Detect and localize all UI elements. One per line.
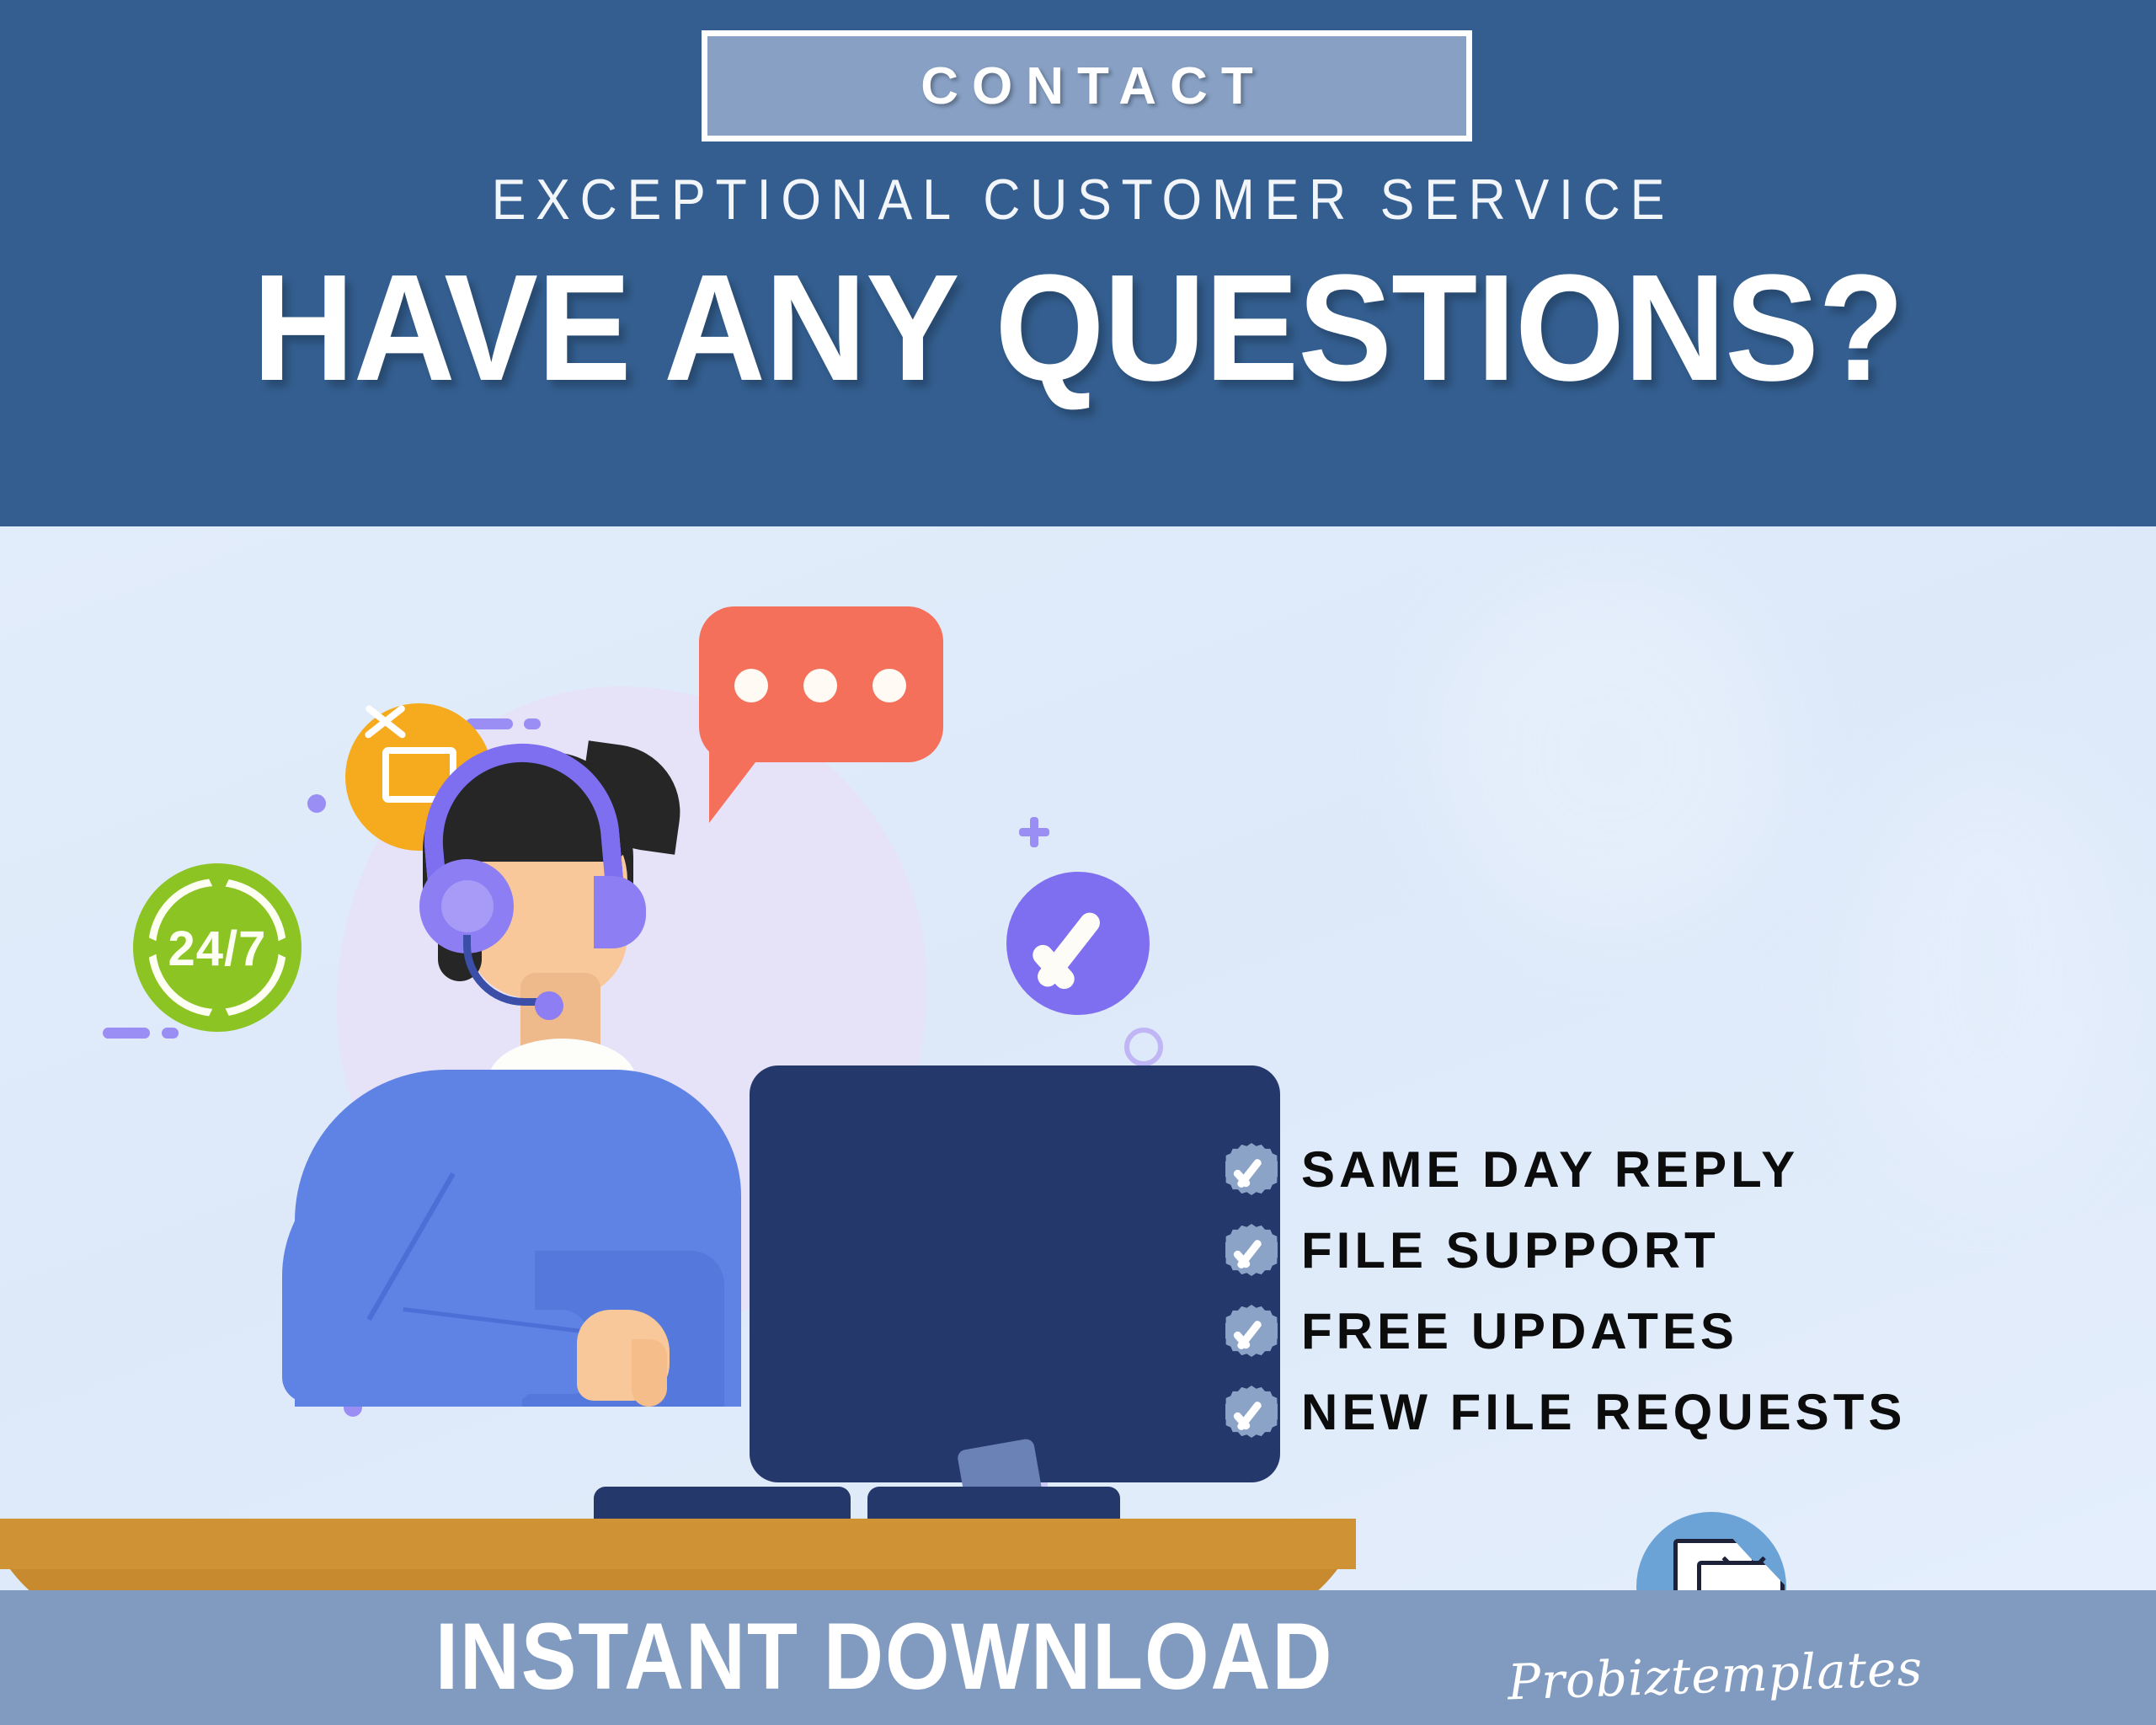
contact-badge: CONTACT [702,30,1472,142]
desk-top-edge [0,1519,1356,1569]
background-smudge [1853,745,2122,1183]
verified-badge-icon [1225,1143,1278,1195]
feature-label: NEW FILE REQUESTS [1301,1383,1906,1441]
page-title: HAVE ANY QUESTIONS? [76,253,2081,404]
feature-item: FILE SUPPORT [1225,1210,2101,1290]
feature-label: FILE SUPPORT [1301,1221,1720,1279]
header-banner: CONTACT EXCEPTIONAL CUSTOMER SERVICE HAV… [0,0,2156,526]
headset-earcup-inner [441,880,494,932]
feature-list: SAME DAY REPLY FILE SUPPORT FREE UPDATES [1225,1129,2101,1452]
feature-item: NEW FILE REQUESTS [1225,1371,2101,1452]
feature-label: SAME DAY REPLY [1301,1140,1799,1199]
verified-badge-icon [1225,1386,1278,1438]
headset-mic-arm [463,935,546,1006]
main-content: 24/7 [0,526,2156,1590]
feature-label: FREE UPDATES [1301,1302,1738,1360]
contact-badge-label: CONTACT [907,56,1266,116]
verified-badge-icon [1225,1224,1278,1276]
headset-earcup-back [594,876,646,948]
background-smudge [1432,577,1785,931]
headset-mic [535,991,563,1020]
subheadline: EXCEPTIONAL CUSTOMER SERVICE [108,167,2048,232]
marketing-poster: CONTACT EXCEPTIONAL CUSTOMER SERVICE HAV… [0,0,2156,1725]
feature-item: SAME DAY REPLY [1225,1129,2101,1210]
verified-badge-icon [1225,1305,1278,1357]
feature-item: FREE UPDATES [1225,1290,2101,1371]
monitor-screen [750,1065,1280,1482]
customer-service-illustration: 24/7 [126,526,1246,1590]
instant-download-label: INSTANT DOWNLOAD [106,1602,1662,1711]
agent-finger [632,1339,667,1407]
